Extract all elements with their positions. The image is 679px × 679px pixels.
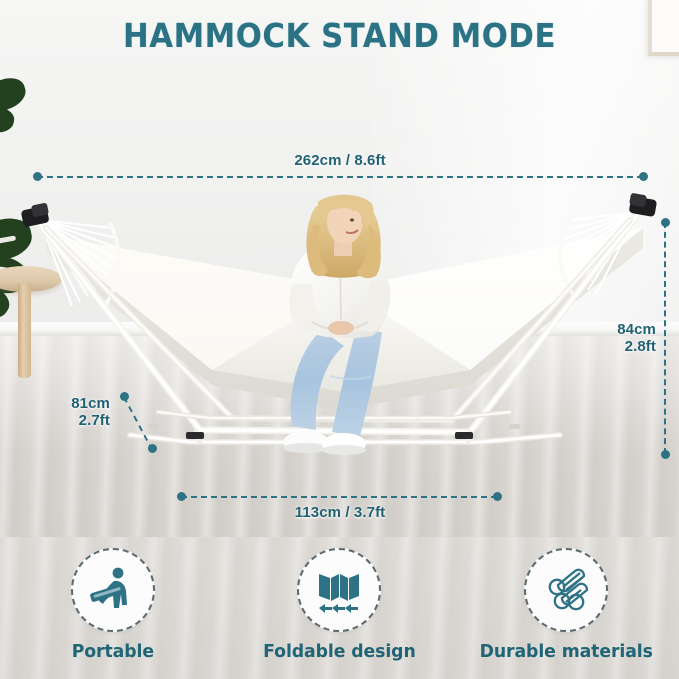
dimension-label-overall-length: 262cm / 8.6ft	[255, 153, 425, 170]
dimension-endpoint-left	[33, 172, 42, 181]
dimension-endpoint-upper	[120, 392, 129, 401]
feature-strip: Portable Foldable design	[0, 537, 679, 679]
folding-panels-icon	[313, 564, 365, 616]
stacked-tubes-icon	[540, 564, 592, 616]
dimension-label-seat-height-ft: 2.7ft	[48, 413, 110, 430]
dimension-endpoint-top	[661, 218, 670, 227]
hammock-and-stand	[0, 180, 679, 490]
feature-label-durable-materials: Durable materials	[479, 641, 652, 662]
product-infographic: HAMMOCK STAND MODE 262cm / 8.6ft 84cm 2.…	[0, 0, 679, 679]
page-title: HAMMOCK STAND MODE	[24, 16, 655, 55]
dimension-line-horizontal-top	[37, 176, 643, 178]
feature-icon-circle-portable	[71, 548, 155, 632]
dimension-line-vertical-right	[664, 222, 666, 454]
dimension-endpoint-lower	[148, 444, 157, 453]
dimension-endpoint-right	[639, 172, 648, 181]
dimension-endpoint-bottom	[661, 450, 670, 459]
dimension-line-horizontal-bottom	[181, 496, 497, 498]
feature-portable: Portable	[0, 548, 226, 662]
feature-label-portable: Portable	[72, 641, 154, 662]
feature-durable-materials: Durable materials	[453, 548, 679, 662]
feature-foldable-design: Foldable design	[226, 548, 452, 662]
dimension-label-stand-height-cm: 84cm	[598, 322, 656, 339]
feature-icon-circle-durable	[524, 548, 608, 632]
dimension-label-seat-height-cm: 81cm	[48, 396, 110, 413]
feature-icon-circle-foldable	[297, 548, 381, 632]
feature-label-foldable-design: Foldable design	[263, 641, 415, 662]
dimension-label-stand-height-ft: 2.8ft	[598, 339, 656, 356]
dimension-label-base-width: 113cm / 3.7ft	[255, 505, 425, 522]
dimension-endpoint-left-bottom	[177, 492, 186, 501]
dimension-endpoint-right-bottom	[493, 492, 502, 501]
person-carrying-icon	[87, 564, 139, 616]
